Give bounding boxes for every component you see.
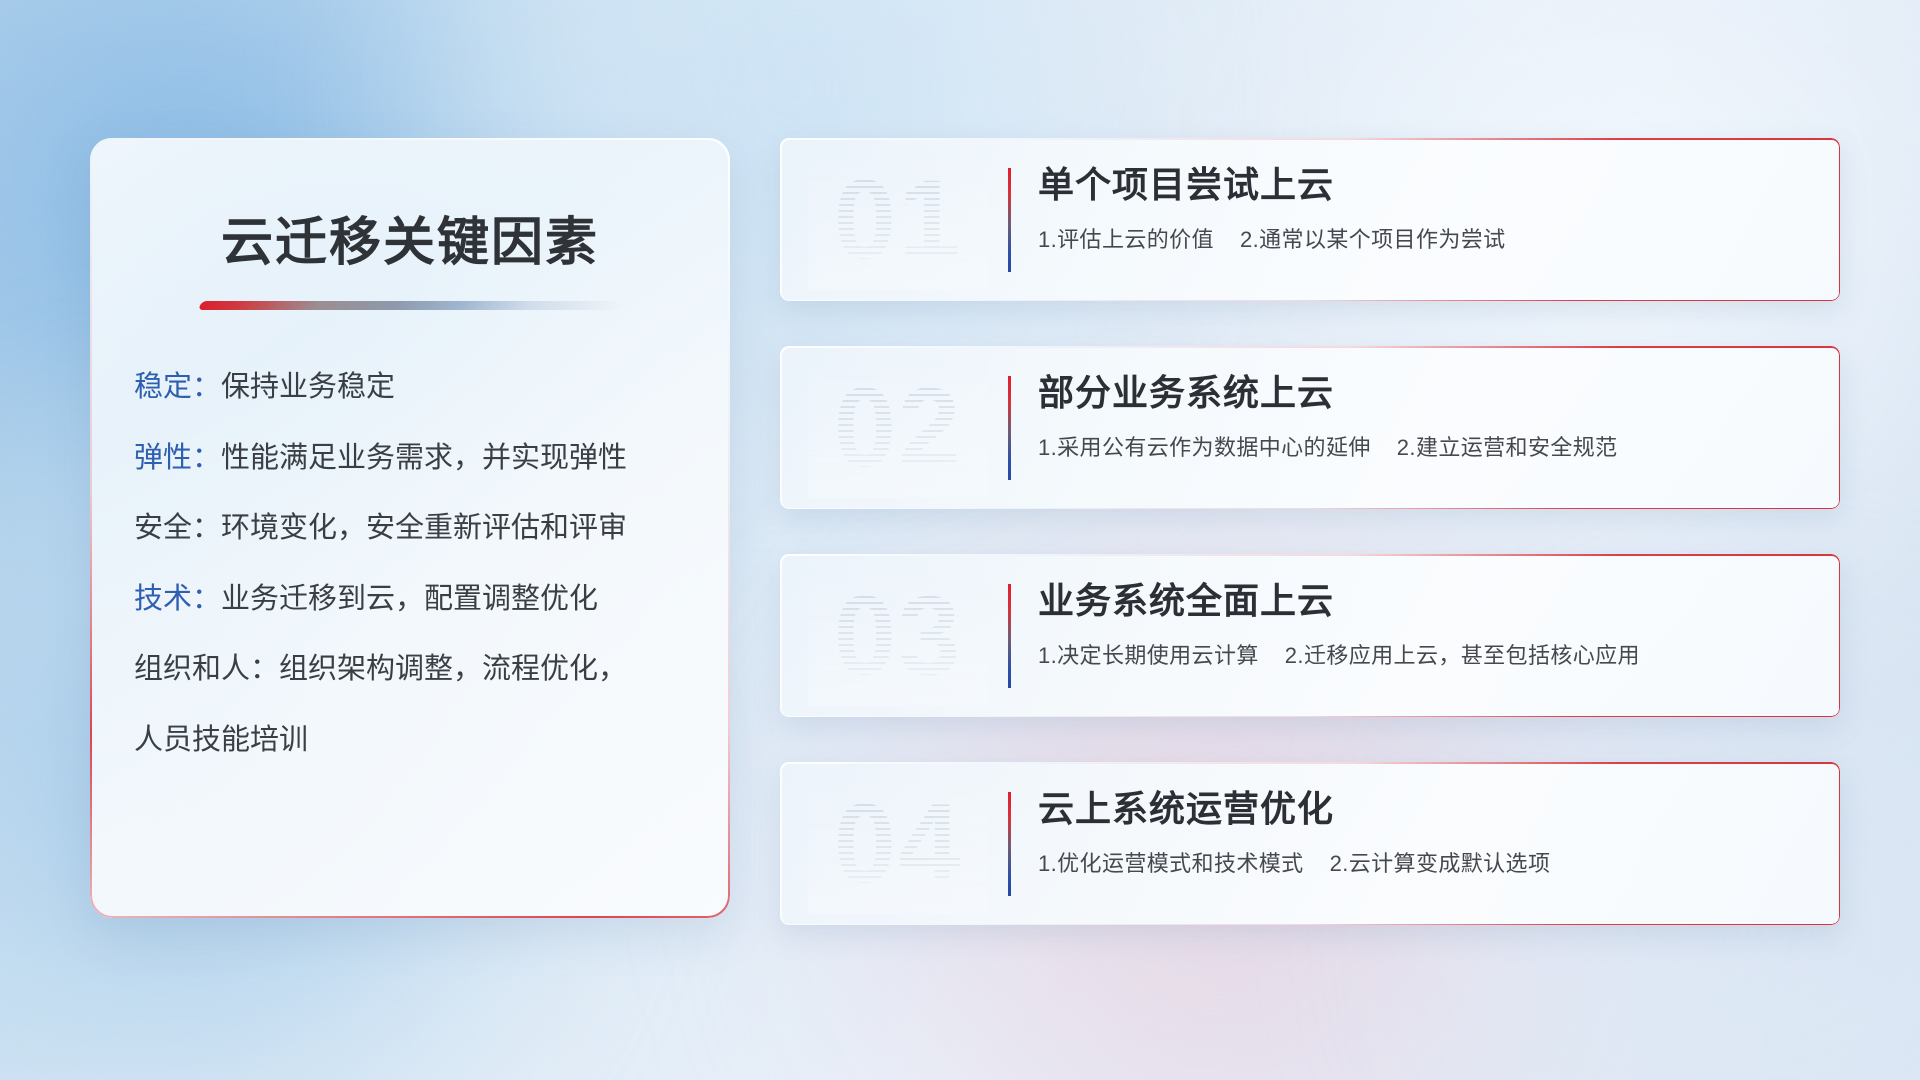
factor-label: 稳定： bbox=[134, 371, 221, 403]
divider bbox=[1008, 168, 1011, 272]
factor-item: 技术：业务迁移到云，配置调整优化 bbox=[134, 580, 690, 619]
factor-item: 人员技能培训 bbox=[134, 721, 690, 760]
stage-subtitle: 1.采用公有云作为数据中心的延伸 2.建立运营和安全规范 bbox=[1038, 434, 1812, 463]
stage-card-body: 云上系统运营优化1.优化运营模式和技术模式 2.云计算变成默认选项 bbox=[1038, 786, 1812, 879]
stage-card-body: 部分业务系统上云1.采用公有云作为数据中心的延伸 2.建立运营和安全规范 bbox=[1038, 370, 1812, 463]
stage-card-body: 单个项目尝试上云1.评估上云的价值 2.通常以某个项目作为尝试 bbox=[1038, 162, 1812, 255]
title-underline-accent bbox=[198, 301, 622, 310]
stage-number: 04 bbox=[808, 774, 988, 914]
stage-card-list: 01单个项目尝试上云1.评估上云的价值 2.通常以某个项目作为尝试02部分业务系… bbox=[780, 138, 1840, 970]
stage-title: 云上系统运营优化 bbox=[1038, 786, 1812, 832]
factor-label: 安全： bbox=[134, 512, 221, 544]
stage-number: 03 bbox=[808, 566, 988, 706]
stage-card[interactable]: 03业务系统全面上云1.决定长期使用云计算 2.迁移应用上云，甚至包括核心应用 bbox=[780, 554, 1840, 717]
key-factors-panel: 云迁移关键因素 稳定：保持业务稳定弹性：性能满足业务需求，并实现弹性安全：环境变… bbox=[90, 138, 730, 918]
factor-text: 人员技能培训 bbox=[134, 724, 308, 756]
stage-title: 单个项目尝试上云 bbox=[1038, 162, 1812, 208]
stage-subtitle: 1.优化运营模式和技术模式 2.云计算变成默认选项 bbox=[1038, 850, 1812, 879]
stage-card[interactable]: 02部分业务系统上云1.采用公有云作为数据中心的延伸 2.建立运营和安全规范 bbox=[780, 346, 1840, 509]
divider bbox=[1008, 376, 1011, 480]
page-title: 云迁移关键因素 bbox=[90, 200, 730, 275]
stage-number: 02 bbox=[808, 358, 988, 498]
stage-card[interactable]: 04云上系统运营优化1.优化运营模式和技术模式 2.云计算变成默认选项 bbox=[780, 762, 1840, 925]
factor-item: 安全：环境变化，安全重新评估和评审 bbox=[134, 509, 690, 548]
factor-text: 保持业务稳定 bbox=[221, 371, 395, 403]
stage-title: 部分业务系统上云 bbox=[1038, 370, 1812, 416]
factor-label: 弹性： bbox=[134, 442, 221, 474]
factor-list: 稳定：保持业务稳定弹性：性能满足业务需求，并实现弹性安全：环境变化，安全重新评估… bbox=[90, 368, 730, 759]
factor-text: 环境变化，安全重新评估和评审 bbox=[221, 512, 627, 544]
stage-title: 业务系统全面上云 bbox=[1038, 578, 1812, 624]
factor-text: 组织架构调整，流程优化， bbox=[279, 653, 627, 685]
factor-text: 性能满足业务需求，并实现弹性 bbox=[221, 442, 627, 474]
factor-label: 技术： bbox=[134, 583, 221, 615]
factor-item: 稳定：保持业务稳定 bbox=[134, 368, 690, 407]
factor-label: 组织和人： bbox=[134, 653, 279, 685]
stage-subtitle: 1.决定长期使用云计算 2.迁移应用上云，甚至包括核心应用 bbox=[1038, 642, 1812, 671]
stage-card-body: 业务系统全面上云1.决定长期使用云计算 2.迁移应用上云，甚至包括核心应用 bbox=[1038, 578, 1812, 671]
factor-item: 组织和人：组织架构调整，流程优化， bbox=[134, 650, 690, 689]
divider bbox=[1008, 792, 1011, 896]
stage-number: 01 bbox=[808, 150, 988, 290]
factor-text: 业务迁移到云，配置调整优化 bbox=[221, 583, 598, 615]
divider bbox=[1008, 584, 1011, 688]
factor-item: 弹性：性能满足业务需求，并实现弹性 bbox=[134, 439, 690, 478]
stage-card[interactable]: 01单个项目尝试上云1.评估上云的价值 2.通常以某个项目作为尝试 bbox=[780, 138, 1840, 301]
stage-subtitle: 1.评估上云的价值 2.通常以某个项目作为尝试 bbox=[1038, 226, 1812, 255]
